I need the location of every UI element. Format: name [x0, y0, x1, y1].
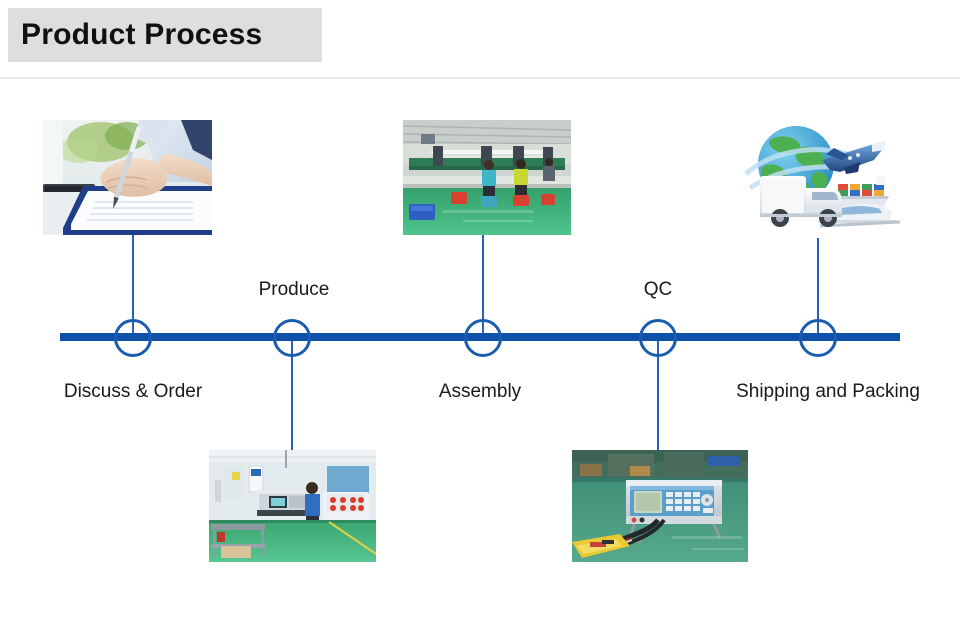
step-label-discuss-order: Discuss & Order — [23, 382, 243, 401]
page-header: Product Process — [0, 0, 960, 79]
step-label-assembly: Assembly — [380, 382, 580, 401]
timeline-node-discuss-order[interactable] — [114, 319, 152, 357]
step-label-qc: QC — [558, 280, 758, 299]
timeline-node-assembly[interactable] — [464, 319, 502, 357]
production-workshop-photo[interactable] — [209, 450, 376, 562]
connector-produce — [291, 341, 293, 450]
connector-qc — [657, 341, 659, 450]
timeline-node-produce[interactable] — [273, 319, 311, 357]
timeline-node-qc[interactable] — [639, 319, 677, 357]
timeline-node-shipping-packing[interactable] — [799, 319, 837, 357]
step-label-produce: Produce — [194, 280, 394, 299]
step-label-shipping-packing: Shipping and Packing — [698, 382, 958, 401]
logistics-illustration[interactable] — [740, 118, 900, 238]
title-band: Product Process — [8, 8, 322, 62]
qc-test-equipment-photo[interactable] — [572, 450, 748, 562]
product-process-timeline: Produce QC Discuss & Order Assembly Ship… — [0, 79, 960, 617]
page-title: Product Process — [8, 20, 262, 50]
assembly-line-photo[interactable] — [403, 120, 571, 235]
contract-signing-photo[interactable] — [43, 120, 212, 235]
